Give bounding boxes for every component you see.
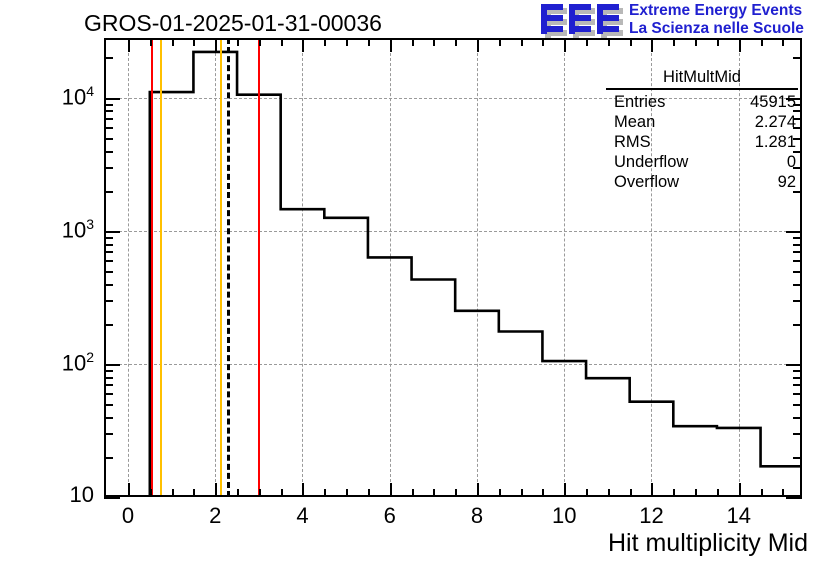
- x-axis-title: Hit multiplicity Mid: [608, 529, 808, 558]
- x-axis-tick: [477, 38, 479, 52]
- x-axis-tick: [433, 38, 435, 46]
- stats-row: RMS1.281: [604, 132, 800, 152]
- x-axis-tick: [542, 489, 544, 497]
- x-axis-tick: [608, 489, 610, 497]
- y-axis-tick: [793, 370, 802, 372]
- stats-box-rows: Entries45915Mean2.274RMS1.281Underflow0O…: [604, 92, 800, 192]
- stats-row: Entries45915: [604, 92, 800, 112]
- stats-box-rule: [606, 88, 798, 90]
- eee-letter-icon: [597, 4, 621, 34]
- x-axis-tick: [128, 483, 130, 497]
- x-axis-tick: [521, 38, 523, 46]
- x-axis-tick: [172, 489, 174, 497]
- x-axis-tick: [237, 38, 239, 46]
- eee-logo-line1: Extreme Energy Events: [629, 2, 804, 20]
- x-axis-tick: [390, 38, 392, 52]
- stats-row-key: RMS: [614, 132, 651, 152]
- y-axis-tick: [104, 364, 120, 366]
- x-axis-tick: [782, 489, 784, 497]
- x-axis-tick: [215, 38, 217, 52]
- y-axis-tick: [104, 231, 120, 233]
- y-axis-tick: [104, 497, 120, 499]
- y-axis-tick: [104, 191, 113, 193]
- stats-row: Mean2.274: [604, 112, 800, 132]
- x-axis-tick: [651, 483, 653, 497]
- x-axis-tick: [215, 483, 217, 497]
- x-axis-tick: [673, 489, 675, 497]
- x-axis-tick: [433, 489, 435, 497]
- y-axis-tick: [793, 433, 802, 435]
- eee-letter-icon: [569, 4, 593, 34]
- x-axis-tick: [368, 489, 370, 497]
- x-axis-tick: [455, 38, 457, 46]
- x-axis-tick-label: 12: [621, 503, 681, 529]
- x-axis-tick: [412, 489, 414, 497]
- x-axis-tick: [695, 38, 697, 46]
- y-axis-tick-label: 10: [24, 482, 94, 508]
- y-axis-tick: [104, 151, 113, 153]
- x-axis-tick: [128, 38, 130, 52]
- x-axis-tick: [586, 38, 588, 46]
- eee-letter-fg-icon: [569, 4, 591, 32]
- y-axis-tick: [793, 384, 802, 386]
- x-axis-tick: [761, 38, 763, 46]
- x-axis-tick: [281, 489, 283, 497]
- x-axis-tick-label: 10: [534, 503, 594, 529]
- y-axis-tick: [786, 497, 802, 499]
- y-axis-tick: [793, 251, 802, 253]
- y-axis-tick: [104, 237, 113, 239]
- x-axis-tick: [477, 483, 479, 497]
- x-axis-tick: [324, 489, 326, 497]
- x-axis-tick: [564, 38, 566, 52]
- x-axis-tick: [608, 38, 610, 46]
- y-axis-tick: [104, 244, 113, 246]
- x-axis-tick: [193, 38, 195, 46]
- y-axis-tick: [793, 457, 802, 459]
- x-axis-tick-label: 4: [272, 503, 332, 529]
- y-axis-tick: [104, 384, 113, 386]
- x-axis-tick: [150, 489, 152, 497]
- x-axis-tick-label: 14: [709, 503, 769, 529]
- y-axis-tick: [793, 284, 802, 286]
- x-axis-tick: [193, 489, 195, 497]
- y-axis-tick: [793, 324, 802, 326]
- x-axis-tick: [302, 38, 304, 52]
- y-axis-tick: [104, 324, 113, 326]
- x-axis-tick: [368, 38, 370, 46]
- y-axis-tick-label: 104: [24, 83, 94, 110]
- x-axis-tick: [521, 489, 523, 497]
- x-axis-tick: [630, 38, 632, 46]
- x-axis-tick: [499, 489, 501, 497]
- y-axis-tick: [104, 104, 113, 106]
- y-axis-tick: [104, 251, 113, 253]
- y-axis-tick: [793, 404, 802, 406]
- y-axis-tick-label: 102: [24, 349, 94, 376]
- y-axis-tick: [786, 231, 802, 233]
- x-axis-tick: [259, 489, 261, 497]
- x-axis-tick-label: 8: [447, 503, 507, 529]
- stats-row-key: Underflow: [614, 152, 688, 172]
- x-axis-tick: [739, 38, 741, 52]
- x-axis-tick: [455, 489, 457, 497]
- x-axis-tick-label: 0: [98, 503, 158, 529]
- y-axis-tick-label: 103: [24, 216, 94, 243]
- stats-row-value: 1.281: [755, 132, 796, 152]
- y-axis-tick: [104, 377, 113, 379]
- y-axis-tick: [786, 364, 802, 366]
- y-axis-tick: [793, 417, 802, 419]
- eee-logo-mark-icon: [541, 4, 625, 36]
- x-axis-tick: [150, 38, 152, 46]
- eee-letter-fg-icon: [541, 4, 563, 32]
- y-axis-tick: [793, 57, 802, 59]
- x-axis-tick: [630, 489, 632, 497]
- eee-logo: Extreme Energy Events La Scienza nelle S…: [541, 2, 833, 40]
- x-axis-tick: [586, 489, 588, 497]
- x-axis-tick: [739, 483, 741, 497]
- y-axis-tick: [104, 457, 113, 459]
- y-axis-tick: [793, 377, 802, 379]
- x-axis-tick: [499, 38, 501, 46]
- page-title: GROS-01-2025-01-31-00036: [84, 10, 382, 37]
- x-axis-tick: [412, 38, 414, 46]
- y-axis-tick: [104, 433, 113, 435]
- stats-row-key: Overflow: [614, 172, 679, 192]
- stats-row: Overflow92: [604, 172, 800, 192]
- x-axis-tick: [717, 38, 719, 46]
- stats-row-value: 2.274: [755, 112, 796, 132]
- x-axis-tick: [172, 38, 174, 46]
- x-axis-tick: [782, 38, 784, 46]
- x-axis-tick: [281, 38, 283, 46]
- x-axis-tick: [761, 489, 763, 497]
- y-axis-tick: [793, 271, 802, 273]
- x-axis-tick: [324, 38, 326, 46]
- y-axis-tick: [104, 271, 113, 273]
- x-axis-tick: [302, 483, 304, 497]
- y-axis-tick: [793, 237, 802, 239]
- y-axis-tick: [104, 284, 113, 286]
- eee-letter-fg-icon: [597, 4, 619, 32]
- stats-box-title: HitMultMid: [604, 68, 800, 88]
- eee-letter-icon: [541, 4, 565, 34]
- y-axis-tick: [104, 404, 113, 406]
- y-axis-tick: [104, 127, 113, 129]
- stats-row-value: 45915: [750, 92, 796, 112]
- x-axis-tick: [346, 38, 348, 46]
- x-axis-tick: [564, 483, 566, 497]
- stats-box: HitMultMid Entries45915Mean2.274RMS1.281…: [604, 68, 800, 192]
- stats-row-value: 92: [778, 172, 796, 192]
- x-axis-tick: [346, 489, 348, 497]
- y-axis-tick: [104, 300, 113, 302]
- y-axis-tick: [104, 417, 113, 419]
- x-axis-tick-label: 2: [185, 503, 245, 529]
- x-axis-tick: [237, 489, 239, 497]
- y-axis-tick: [793, 260, 802, 262]
- y-axis-tick: [104, 138, 113, 140]
- y-axis-tick: [793, 393, 802, 395]
- y-axis-tick: [793, 300, 802, 302]
- y-axis-tick: [104, 98, 120, 100]
- x-axis-tick: [717, 489, 719, 497]
- x-axis-tick: [695, 489, 697, 497]
- x-axis-tick: [673, 38, 675, 46]
- stats-row-value: 0: [787, 152, 796, 172]
- y-axis-tick: [104, 110, 113, 112]
- y-axis-tick: [104, 118, 113, 120]
- y-axis-tick: [104, 260, 113, 262]
- y-axis-tick: [104, 57, 113, 59]
- x-axis-tick: [259, 38, 261, 46]
- stats-row: Underflow0: [604, 152, 800, 172]
- stats-row-key: Mean: [614, 112, 655, 132]
- stats-row-key: Entries: [614, 92, 665, 112]
- y-axis-tick: [104, 167, 113, 169]
- eee-logo-line2: La Scienza nelle Scuole: [629, 20, 804, 38]
- eee-logo-text: Extreme Energy Events La Scienza nelle S…: [629, 2, 804, 38]
- y-axis-tick: [793, 244, 802, 246]
- x-axis-tick: [651, 38, 653, 52]
- y-axis-tick: [104, 370, 113, 372]
- x-axis-tick: [390, 483, 392, 497]
- x-axis-tick-label: 6: [360, 503, 420, 529]
- root-canvas: GROS-01-2025-01-31-00036 Extreme Energy …: [0, 0, 836, 572]
- x-axis-tick: [542, 38, 544, 46]
- y-axis-tick: [104, 393, 113, 395]
